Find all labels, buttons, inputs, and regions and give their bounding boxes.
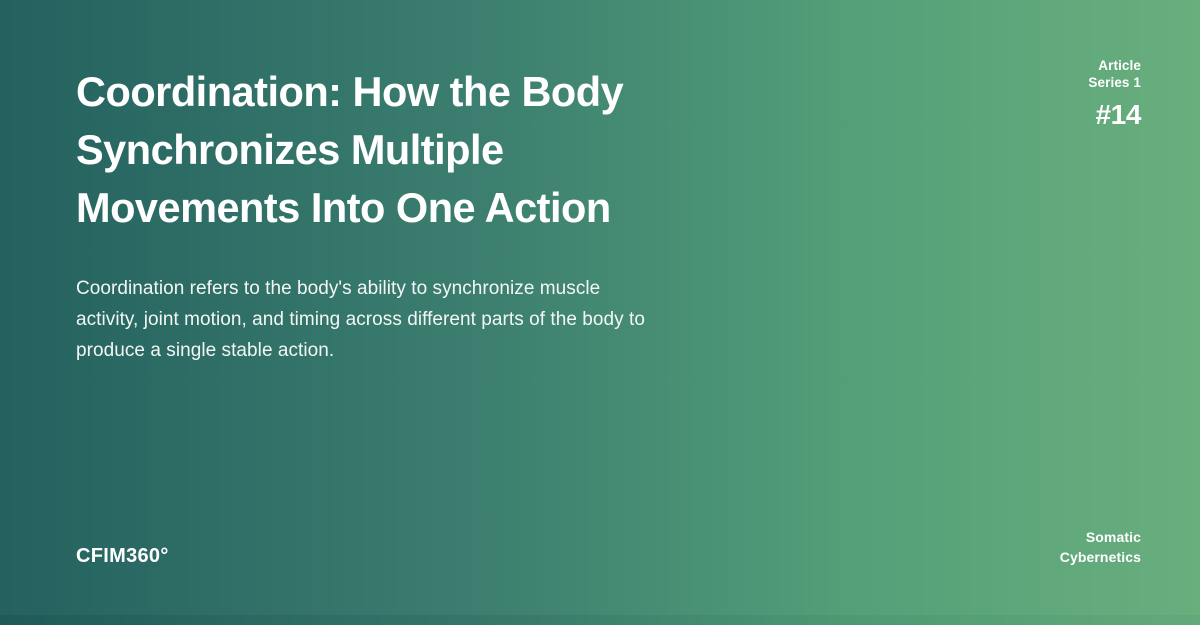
footer-tagline: Somatic Cybernetics xyxy=(1060,527,1141,567)
content-block: Coordination: How the Body Synchronizes … xyxy=(76,63,676,366)
brand-logo: CFIM360° xyxy=(76,544,169,568)
page-title: Coordination: How the Body Synchronizes … xyxy=(76,63,676,237)
series-label: Article Series 1 xyxy=(1088,57,1141,91)
page-subtitle: Coordination refers to the body's abilit… xyxy=(76,237,651,366)
series-number: #14 xyxy=(1088,100,1141,130)
accent-bar xyxy=(0,615,1200,625)
article-banner-card: Article Series 1 #14 Coordination: How t… xyxy=(0,0,1200,625)
series-badge: Article Series 1 #14 xyxy=(1088,57,1141,130)
